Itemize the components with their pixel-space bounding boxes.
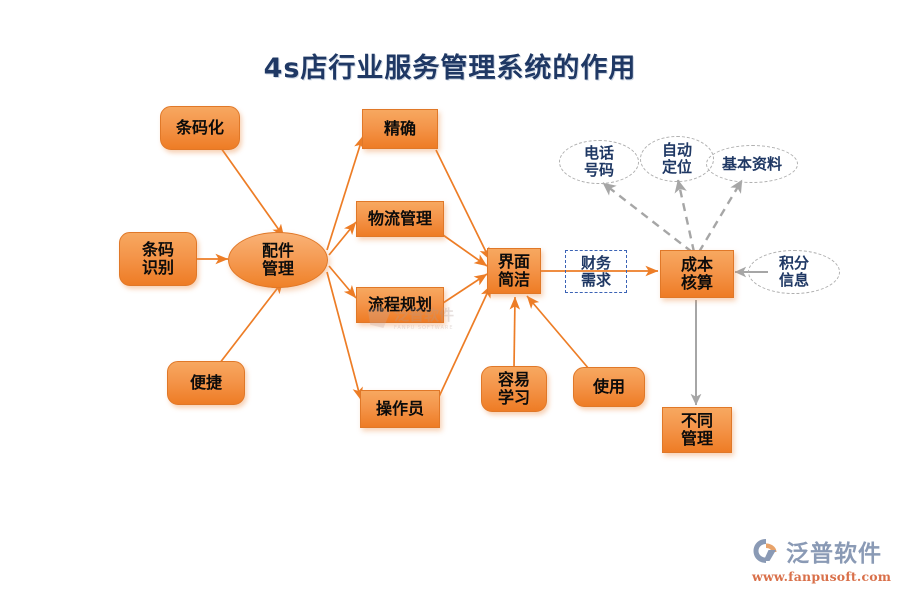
fanpu-logo-icon [752,537,782,565]
node-basic-profile[interactable]: 基本资料 [706,145,798,183]
node-process-planning-label: 流程规划 [368,296,432,314]
node-phone-number-line1: 电话 [584,145,614,162]
node-convenient-label: 便捷 [190,374,222,392]
node-easy-to-learn-line2: 学习 [498,389,530,407]
node-different-management-line2: 管理 [681,430,713,448]
node-points-info-line2: 信息 [779,272,809,289]
node-logistics-management[interactable]: 物流管理 [356,201,444,237]
node-simple-interface-line1: 界面 [498,253,530,271]
node-points-info[interactable]: 积分 信息 [748,250,840,294]
node-cost-accounting-line2: 核算 [681,274,713,292]
node-accurate-label: 精确 [384,120,416,138]
node-usage[interactable]: 使用 [573,367,645,407]
node-barcode-recognition-line2: 识别 [142,259,174,277]
node-cost-accounting-line1: 成本 [681,256,713,274]
node-operator[interactable]: 操作员 [360,390,440,428]
node-barcode-recognition-line1: 条码 [142,241,174,259]
brand-name: 泛普软件 [786,534,882,568]
brand-url: www.fanpusoft.com [752,569,892,584]
node-financial-requirement[interactable]: 财务 需求 [565,250,627,293]
page-title: 4s店行业服务管理系统的作用 [0,46,900,85]
node-usage-label: 使用 [593,378,625,396]
node-logistics-management-label: 物流管理 [368,210,432,228]
node-different-management[interactable]: 不同 管理 [662,407,732,453]
node-operator-label: 操作员 [376,400,424,418]
node-different-management-line1: 不同 [681,412,713,430]
node-barcode-ize[interactable]: 条码化 [160,106,240,150]
node-financial-requirement-line1: 财务 [581,255,611,272]
node-process-planning[interactable]: 流程规划 [356,287,444,323]
node-basic-profile-label: 基本资料 [722,156,782,173]
node-easy-to-learn-line1: 容易 [498,371,530,389]
node-auto-location-line2: 定位 [662,159,692,176]
node-convenient[interactable]: 便捷 [167,361,245,405]
node-points-info-line1: 积分 [779,255,809,272]
node-easy-to-learn[interactable]: 容易 学习 [481,366,547,412]
node-parts-management[interactable]: 配件 管理 [228,232,328,288]
node-financial-requirement-line2: 需求 [581,272,611,289]
node-phone-number-line2: 号码 [584,162,614,179]
node-phone-number[interactable]: 电话 号码 [559,140,639,184]
node-barcode-ize-label: 条码化 [176,119,224,137]
diagram-connectors [0,0,900,600]
node-simple-interface-line2: 简洁 [498,271,530,289]
node-simple-interface[interactable]: 界面 简洁 [487,248,541,294]
node-barcode-recognition[interactable]: 条码 识别 [119,232,197,286]
node-parts-management-line2: 管理 [262,260,294,278]
brand-logo: 泛普软件 www.fanpusoft.com [752,534,892,590]
node-auto-location-line1: 自动 [662,142,692,159]
node-auto-location[interactable]: 自动 定位 [640,136,714,182]
node-cost-accounting[interactable]: 成本 核算 [660,250,734,298]
node-parts-management-line1: 配件 [262,242,294,260]
node-accurate[interactable]: 精确 [362,109,438,149]
